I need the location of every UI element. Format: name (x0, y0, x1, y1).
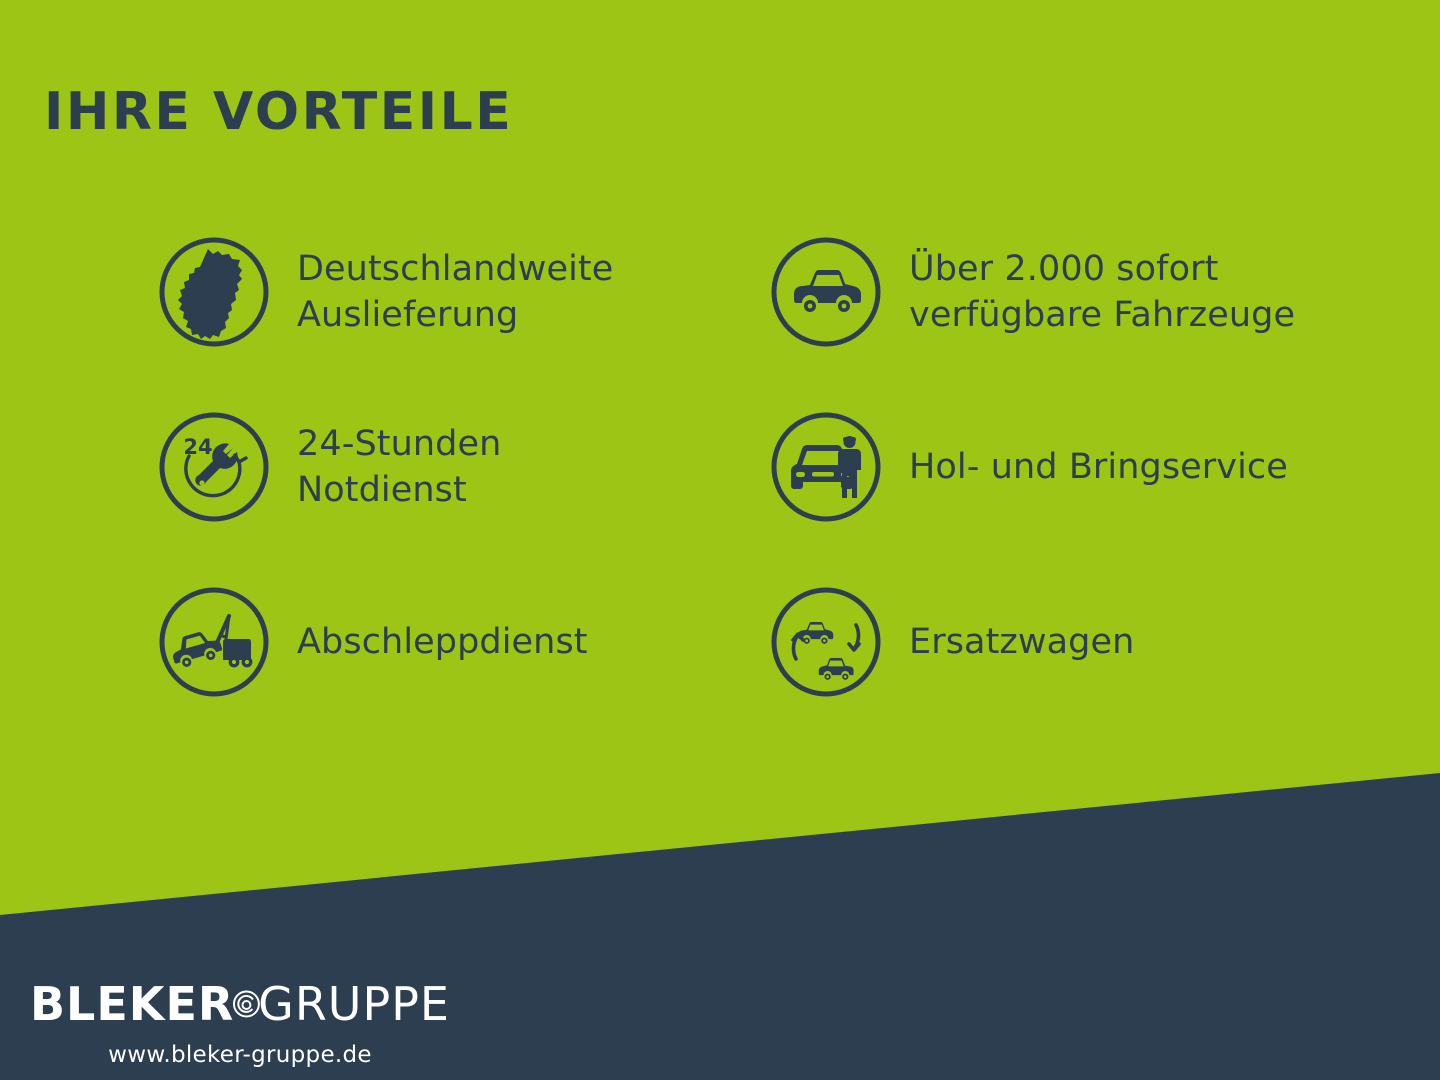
benefit-item-hol-und-bringservice: Hol- und Bringservice (767, 403, 1327, 531)
benefit-label: Ersatzwagen (909, 619, 1134, 665)
two-cars-swap-icon (767, 583, 885, 701)
benefit-item-abschleppdienst: Abschleppdienst (155, 578, 715, 706)
benefit-label-line1: Ersatzwagen (909, 622, 1134, 662)
benefit-label-line2: Auslieferung (297, 292, 613, 338)
benefit-item-deutschlandweite-auslieferung: Deutschlandweite Auslieferung (155, 228, 715, 356)
germany-map-icon (155, 233, 273, 351)
benefit-label: 24-Stunden Notdienst (297, 421, 501, 513)
benefit-label-line1: Über 2.000 sofort (909, 249, 1218, 289)
benefit-label: Abschleppdienst (297, 619, 588, 665)
benefit-label: Deutschlandweite Auslieferung (297, 246, 613, 338)
benefit-item-ersatzwagen: Ersatzwagen (767, 578, 1327, 706)
benefit-label-line2: verfügbare Fahrzeuge (909, 292, 1295, 338)
benefit-item-verfuegbare-fahrzeuge: Über 2.000 sofort verfügbare Fahrzeuge (767, 228, 1327, 356)
benefits-grid: Deutschlandweite Auslieferung Über 2.000… (155, 228, 1385, 706)
tow-truck-icon (155, 583, 273, 701)
24-hour-wrench-icon: 24 (155, 408, 273, 526)
logo-url: www.bleker-gruppe.de (30, 1042, 450, 1068)
logo-name-gruppe: GRUPPE (258, 981, 450, 1027)
benefit-label-line1: Deutschlandweite (297, 249, 613, 289)
logo-wordmark: BLEKER GRUPPE (30, 975, 450, 1033)
company-logo: BLEKER GRUPPE www.bleker-gruppe.de (30, 975, 450, 1068)
benefit-label-line1: 24-Stunden (297, 424, 501, 464)
spiral-circle-icon (232, 975, 261, 1033)
car-side-icon (767, 233, 885, 351)
benefit-item-24-stunden-notdienst: 24 24-Stunden Notdienst (155, 403, 715, 531)
benefit-label: Hol- und Bringservice (909, 444, 1288, 490)
benefit-label-line1: Hol- und Bringservice (909, 447, 1288, 487)
slide-canvas: IHRE VORTEILE Deutschlandweite Ausliefer… (0, 0, 1440, 1080)
benefit-label-line2: Notdienst (297, 467, 501, 513)
benefit-label-line1: Abschleppdienst (297, 622, 588, 662)
car-with-driver-icon (767, 408, 885, 526)
logo-name-bleker: BLEKER (30, 981, 234, 1027)
page-title: IHRE VORTEILE (44, 86, 513, 138)
benefit-label: Über 2.000 sofort verfügbare Fahrzeuge (909, 246, 1295, 338)
